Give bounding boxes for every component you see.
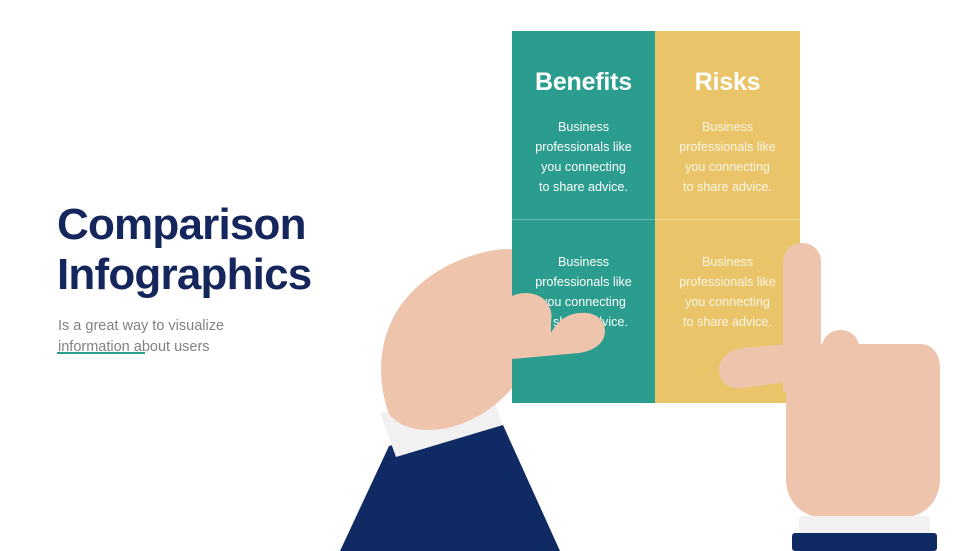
column-heading-benefits: Benefits [535,31,632,95]
cell-body-benefits-row1: Business professionals like you connecti… [535,95,632,198]
cell-body-risks-row1: Business professionals like you connecti… [679,95,776,198]
slide-canvas: Benefits Business professionals like you… [0,0,980,551]
hand-left-behind-card [0,0,980,551]
cell-body-benefits-row2: Business professionals like you connecti… [535,219,632,333]
card-cell-benefits-row1: Benefits Business professionals like you… [512,31,655,219]
card-cell-risks-row1: Risks Business professionals like you co… [655,31,800,219]
column-heading-risks: Risks [695,31,761,95]
cell-body-risks-row2: Business professionals like you connecti… [679,219,776,333]
card-cell-benefits-row2: Business professionals like you connecti… [512,219,655,403]
comparison-card: Benefits Business professionals like you… [512,31,800,403]
card-cell-risks-row2: Business professionals like you connecti… [655,219,800,403]
